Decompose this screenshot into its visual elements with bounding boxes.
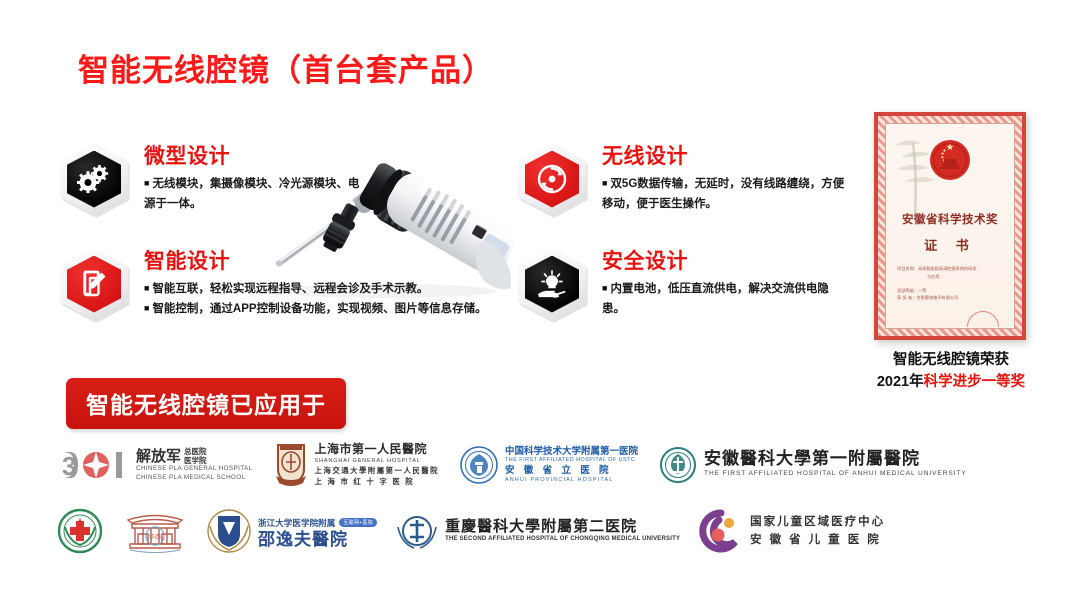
logo-en-name: SHANGHAI GENERAL HOSPITAL (315, 457, 439, 465)
green-wreath-logo-icon (56, 507, 104, 555)
301-logo-icon: 3 (60, 447, 130, 483)
logo-en-name2: CHINESE PLA MEDICAL SCHOOL (136, 474, 253, 482)
certificate-doc-type: 证 书 (887, 235, 1013, 254)
logo-en-name: THE SECOND AFFILIATED HOSPITAL OF CHONGQ… (445, 535, 680, 544)
logo-cn-sub: 安 徽 省 立 医 院 (505, 465, 638, 477)
zju-shield-logo-icon (206, 508, 252, 554)
wireless-sync-icon (518, 143, 590, 219)
logo-cn-sub2: 医学院 (184, 457, 207, 466)
applications-banner: 智能无线腔镜已应用于 (66, 378, 346, 429)
feature-body: ■无线模块，集摄像模块、冷光源模块、电源于一体。 (144, 174, 360, 214)
feature-body: ■内置电池，低压直流供电，解决交流供电隐患。 (602, 279, 848, 319)
national-emblem-icon (927, 137, 973, 183)
hospital-logo-row-2: 华西 浙江大学医学院附属互联网+医院 邵逸夫醫院 (0, 498, 1080, 564)
ustc-circle-logo-icon (459, 445, 499, 485)
logo-huaxi-gate-hospital: 华西 (122, 508, 188, 554)
certificate-seal-icon (967, 311, 999, 327)
feature-miniature-design: 微型设计 ■无线模块，集摄像模块、冷光源模块、电源于一体。 (60, 143, 360, 219)
certificate-winner: 获 奖 者：合肥德铭电子有限公司 (897, 294, 1005, 302)
award-certificate-image: 安徽省科学技术奖 证 书 项目名称：无线智能超高清腔镜系统的研发 与应用 奖励等… (874, 112, 1026, 340)
logo-cn-name: 浙江大学医学院附属 (258, 519, 335, 529)
logo-cn-name: 重慶醫科大學附屬第二医院 (445, 518, 680, 535)
feature-body: ■智能互联，轻松实现远程指导、远程会诊及手术示教。 ■智能控制，通过APP控制设… (144, 279, 487, 319)
bullet-icon: ■ (144, 283, 149, 293)
certificate-fine-print: 项目名称：无线智能超高清腔镜系统的研发 与应用 奖励等级：一等 获 奖 者：合肥… (897, 265, 1005, 302)
certificate-caption: 智能无线腔镜荣获 2021年科学进步一等奖 (846, 350, 1056, 394)
logo-cn-sub2: 上 海 市 红 十 字 医 院 (315, 476, 439, 487)
logo-en-sub: ANHUI PROVINCIAL HOSPITAL (505, 477, 638, 484)
gate-pavilion-logo-icon: 华西 (122, 508, 188, 554)
certificate-grade: 奖励等级：一等 (897, 287, 1005, 295)
logo-anhui-medical-university-first-hospital: 安徽醫科大學第一附屬醫院 THE FIRST AFFILIATED HOSPIT… (658, 445, 967, 485)
hospital-logos: 3 解放军 总医院 医学院 CHINESE PLA GENERAL HOSPIT (0, 432, 1080, 564)
feature-wireless-design: 无线设计 ■双5G数据传输，无延时，没有线路缠绕，方便移动，便于医生操作。 (518, 143, 848, 219)
logo-shanghai-general-hospital: 上海市第一人民醫院 SHANGHAI GENERAL HOSPITAL 上海交通… (273, 442, 439, 488)
logo-cn-big-name: 邵逸夫醫院 (258, 531, 377, 550)
logo-green-circle-hospital (56, 507, 104, 555)
logo-anhui-childrens-hospital: 国家儿童区域医疗中心 安 徽 省 儿 童 医 院 (698, 509, 885, 553)
cq-wreath-logo-icon (395, 509, 439, 553)
purple-swirl-logo-icon (698, 509, 744, 553)
bullet-icon: ■ (602, 178, 607, 188)
logo-cn-name: 解放军 (136, 449, 181, 465)
certificate-project-line2: 与应用 (897, 273, 1005, 281)
hospital-logo-row-1: 3 解放军 总医院 医学院 CHINESE PLA GENERAL HOSPIT (0, 432, 1080, 498)
page-title: 智能无线腔镜（首台套产品） (78, 45, 494, 90)
certificate-caption-award: 科学进步一等奖 (924, 374, 1026, 390)
gears-icon (60, 143, 132, 219)
bullet-icon: ■ (144, 303, 149, 313)
anhui-teal-circle-logo-icon (658, 445, 698, 485)
feature-heading: 安全设计 (602, 250, 848, 274)
certificate-caption-year: 2021年 (877, 374, 924, 390)
certificate-award-title: 安徽省科学技术奖 (887, 211, 1013, 227)
logo-ustc-first-affiliated-hospital: 中国科学技术大学附属第一医院 THE FIRST AFFILIATED HOSP… (459, 445, 638, 485)
edit-document-icon (60, 248, 132, 324)
logo-en-name: THE FIRST AFFILIATED HOSPITAL OF USTC (505, 457, 638, 464)
applications-banner-label: 智能无线腔镜已应用于 (86, 392, 326, 418)
logo-cn-name: 中国科学技术大学附属第一医院 (505, 446, 638, 457)
logo-cn-name: 国家儿童区域医疗中心 (750, 513, 885, 531)
slide-canvas: 智能无线腔镜（首台套产品） (0, 0, 1080, 609)
logo-cn-name: 上海市第一人民醫院 (315, 443, 439, 457)
logo-en-name1: CHINESE PLA GENERAL HOSPITAL (136, 465, 253, 473)
logo-chongqing-second-affiliated-hospital: 重慶醫科大學附屬第二医院 THE SECOND AFFILIATED HOSPI… (395, 509, 680, 553)
certificate-caption-line1: 智能无线腔镜荣获 (846, 350, 1056, 372)
svg-text:3: 3 (62, 451, 76, 481)
certificate-project-line1: 项目名称：无线智能超高清腔镜系统的研发 (897, 265, 1005, 273)
logo-cn-sub: 安 徽 省 儿 童 医 院 (750, 531, 885, 549)
feature-heading: 无线设计 (602, 145, 848, 169)
internet-hospital-badge: 互联网+医院 (339, 518, 377, 527)
bullet-icon: ■ (602, 283, 607, 293)
logo-cn-sub1: 上海交通大學附屬第一人民醫院 (315, 465, 439, 476)
feature-smart-design: 智能设计 ■智能互联，轻松实现远程指导、远程会诊及手术示教。 ■智能控制，通过A… (60, 248, 530, 324)
logo-pla-general-hospital: 3 解放军 总医院 医学院 CHINESE PLA GENERAL HOSPIT (60, 447, 253, 483)
bullet-icon: ■ (144, 178, 149, 188)
logo-cn-name: 安徽醫科大學第一附屬醫院 (704, 450, 967, 469)
hand-bulb-icon (518, 248, 590, 324)
feature-heading: 智能设计 (144, 250, 487, 274)
feature-safety-design: 安全设计 ■内置电池，低压直流供电，解决交流供电隐患。 (518, 248, 848, 324)
feature-heading: 微型设计 (144, 145, 360, 169)
logo-sir-run-run-shaw-hospital: 浙江大学医学院附属互联网+医院 邵逸夫醫院 (206, 508, 377, 554)
shield-crest-logo-icon (273, 442, 309, 488)
logo-en-name: THE FIRST AFFILIATED HOSPITAL OF ANHUI M… (704, 469, 967, 480)
feature-body: ■双5G数据传输，无延时，没有线路缠绕，方便移动，便于医生操作。 (602, 174, 848, 214)
svg-text:华西: 华西 (149, 533, 161, 541)
